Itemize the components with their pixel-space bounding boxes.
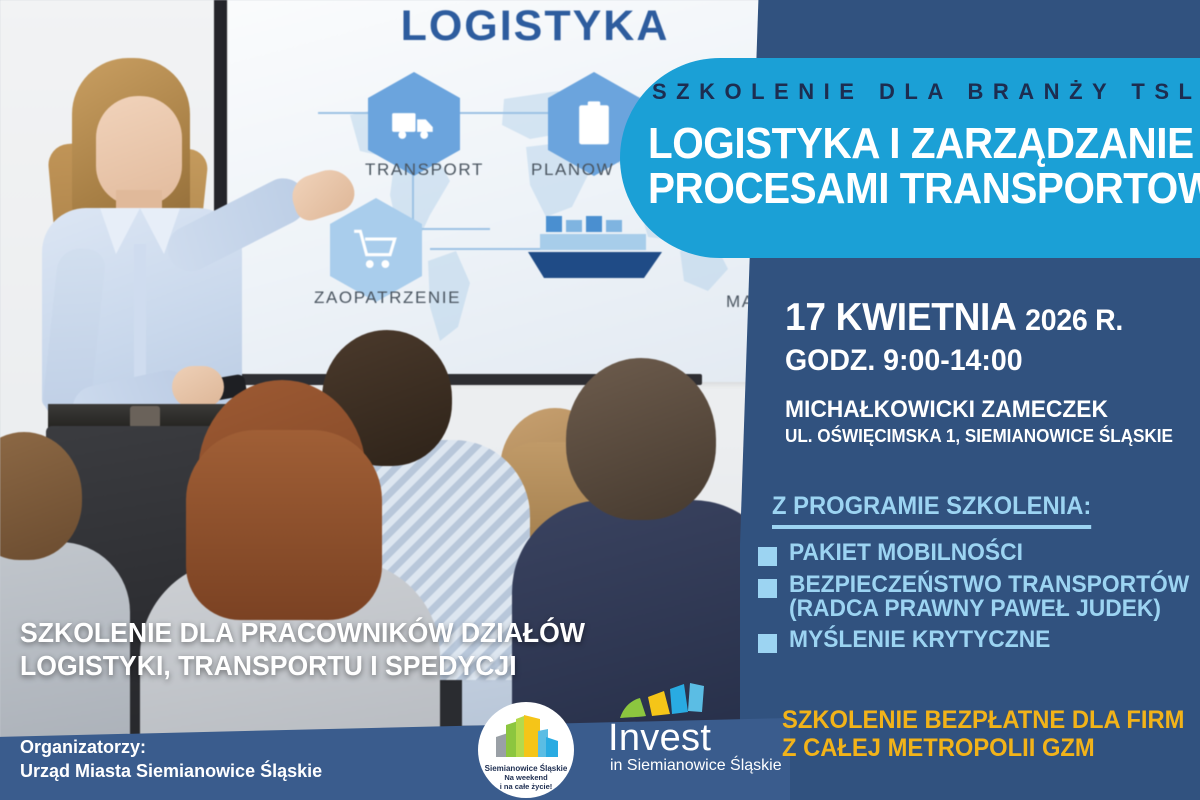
- program-item-text: MYŚLENIE KRYTYCZNE: [789, 628, 1050, 652]
- event-date-day: 17 KWIETNIA: [785, 296, 1015, 339]
- headline-line-2: PROCESAMI TRANSPORTOWYMI: [648, 167, 1200, 212]
- program-list-item: MYŚLENIE KRYTYCZNE: [772, 628, 1197, 653]
- event-time: GODZ. 9:00-14:00: [785, 344, 1175, 378]
- program-item-text: BEZPIECZEŃSTWO TRANSPORTÓW (RADCA PRAWNY…: [789, 573, 1189, 621]
- cta-free-training: SZKOLENIE BEZPŁATNE DLA FIRM Z CAŁEJ MET…: [782, 706, 1184, 762]
- program-list-item: BEZPIECZEŃSTWO TRANSPORTÓW (RADCA PRAWNY…: [772, 573, 1197, 621]
- presenter-open-hand: [287, 163, 360, 224]
- presenter-hand-holding: [172, 366, 224, 408]
- program-title: Z PROGRAMIE SZKOLENIA:: [772, 492, 1091, 529]
- program-block: Z PROGRAMIE SZKOLENIA: PAKIET MOBILNOŚCI…: [772, 492, 1197, 653]
- event-info-block: 17 KWIETNIA 2026 R. GODZ. 9:00-14:00 MIC…: [785, 296, 1195, 447]
- cta-line-2: Z CAŁEJ METROPOLII GZM: [782, 734, 1184, 762]
- clipboard-icon: [569, 99, 619, 149]
- event-date-line: 17 KWIETNIA 2026 R.: [785, 296, 1175, 340]
- claim-line-1: SZKOLENIE DLA PRACOWNIKÓW DZIAŁÓW: [20, 616, 585, 649]
- program-item-text: PAKIET MOBILNOŚCI: [789, 541, 1023, 565]
- organizers-block: Organizatorzy: Urząd Miasta Siemianowice…: [20, 735, 322, 784]
- connector-line: [412, 228, 490, 230]
- slide-title: LOGISTYKA: [300, 2, 770, 51]
- audience-member-hair: [186, 430, 382, 620]
- city-buildings-icon: [478, 711, 574, 761]
- poster-kicker: SZKOLENIE DLA BRANŻY TSL: [652, 79, 1200, 105]
- invest-logo-name: Invest: [608, 720, 775, 756]
- badge-line-3: i na całe życie!: [500, 783, 553, 791]
- program-list-item: PAKIET MOBILNOŚCI: [772, 541, 1197, 566]
- bullet-square-icon: [758, 579, 777, 598]
- transport-label: TRANSPORT: [365, 160, 484, 180]
- organizers-label: Organizatorzy:: [20, 735, 322, 759]
- organizers-name: Urząd Miasta Siemianowice Śląskie: [20, 759, 322, 783]
- event-date-year: 2026 R.: [1025, 304, 1123, 337]
- claim-line-2: LOGISTYKI, TRANSPORTU I SPEDYCJI: [20, 649, 585, 682]
- target-audience-claim: SZKOLENIE DLA PRACOWNIKÓW DZIAŁÓW LOGIST…: [20, 616, 585, 682]
- program-item-line-1: MYŚLENIE KRYTYCZNE: [789, 628, 1050, 652]
- poster-headline: LOGISTYKA I ZARZĄDZANIE PROCESAMI TRANSP…: [648, 122, 1200, 212]
- event-venue: MICHAŁKOWICKI ZAMECZEK: [785, 396, 1175, 424]
- bullet-square-icon: [758, 547, 777, 566]
- audience-member-head: [566, 358, 716, 520]
- event-address: UL. OŚWIĘCIMSKA 1, SIEMIANOWICE ŚLĄSKIE: [785, 426, 1175, 447]
- program-item-line-1: PAKIET MOBILNOŚCI: [789, 541, 1023, 565]
- shopping-cart-icon: [351, 225, 401, 275]
- invest-fan-icon: [614, 672, 775, 720]
- invest-logo-subtitle: in Siemianowice Śląskie: [610, 757, 775, 775]
- siemianowice-badge-logo: Siemianowice Śląskie Na weekend i na cał…: [478, 702, 574, 798]
- truck-icon: [389, 99, 439, 149]
- training-poster: LOGISTYKA TRANSPORT PLANOW: [0, 0, 1200, 800]
- program-item-line-1: BEZPIECZEŃSTWO TRANSPORTÓW: [789, 573, 1189, 597]
- program-list: PAKIET MOBILNOŚCI BEZPIECZEŃSTWO TRANSPO…: [772, 541, 1197, 653]
- planowanie-label: PLANOW: [531, 160, 614, 180]
- presenter-belt-buckle: [130, 406, 160, 428]
- cta-line-1: SZKOLENIE BEZPŁATNE DLA FIRM: [782, 706, 1184, 734]
- bullet-square-icon: [758, 634, 777, 653]
- headline-line-1: LOGISTYKA I ZARZĄDZANIE: [648, 122, 1200, 167]
- program-item-line-2: (RADCA PRAWNY PAWEŁ JUDEK): [789, 597, 1189, 621]
- invest-logo: Invest in Siemianowice Śląskie: [600, 672, 775, 775]
